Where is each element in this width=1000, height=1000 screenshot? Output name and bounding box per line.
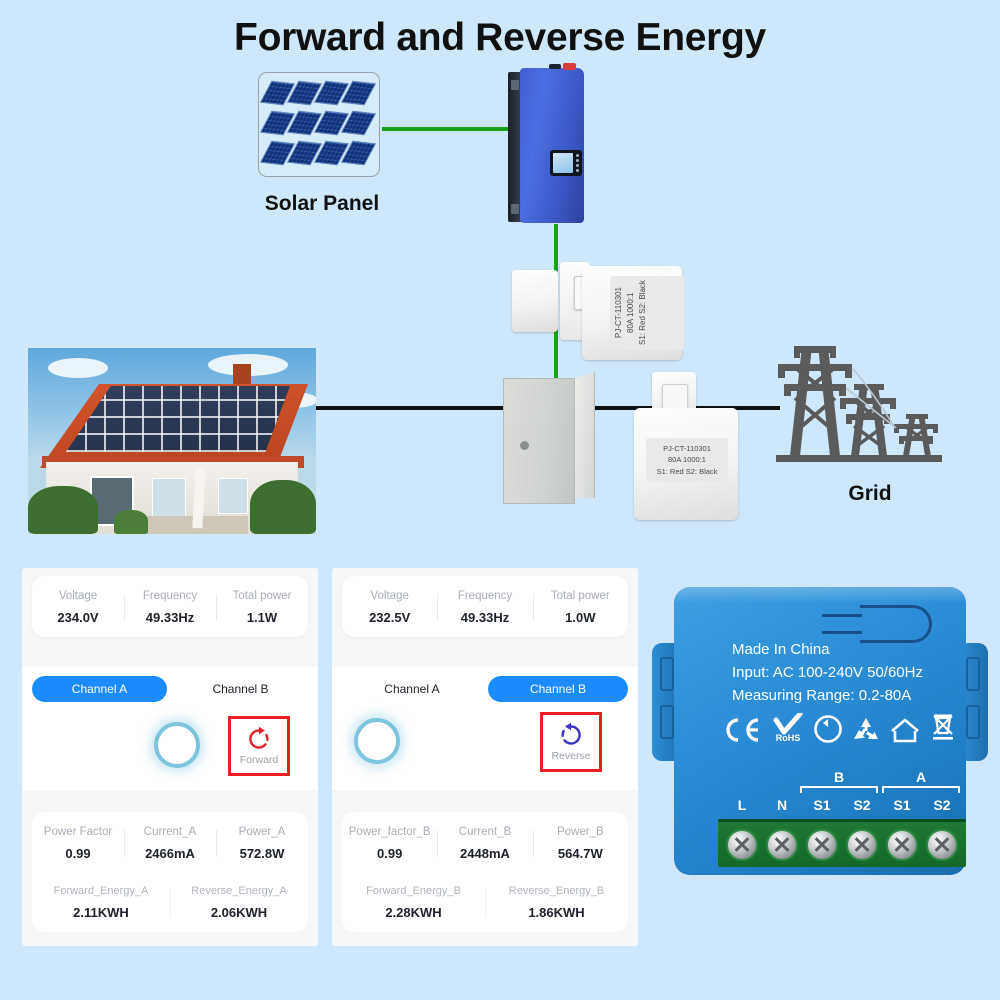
metric-label: Voltage: [32, 590, 124, 602]
terminal-labels: B A L N S1 S2 S1 S2: [722, 769, 962, 813]
ct-lower-wiring: S1: Red S2: Black: [657, 467, 718, 476]
ce-mark-icon: [722, 717, 762, 743]
metric-power-factor-a: Power Factor 0.99: [32, 826, 124, 861]
grid-tie-inverter-icon: [508, 68, 584, 226]
metric-power-factor-b: Power_factor_B 0.99: [342, 826, 437, 861]
metric-value: 232.5V: [342, 610, 437, 625]
direction-area-a: Forward: [22, 704, 318, 790]
metric-value: 234.0V: [32, 610, 124, 625]
terminal-block: [718, 819, 966, 867]
green-dot-icon: [814, 715, 842, 743]
cable-hook-icon: [860, 605, 932, 643]
spec-line-input: Input: AC 100-240V 50/60Hz: [732, 662, 923, 685]
direction-label: Forward: [240, 754, 279, 766]
bottom-metrics-card-a: Power Factor 0.99 Current_A 2466mA Power…: [32, 812, 308, 932]
rotate-clockwise-icon: [246, 726, 272, 752]
bottom-metrics-card-b: Power_factor_B 0.99 Current_B 2448mA Pow…: [342, 812, 628, 932]
top-metrics-card-b: Voltage 232.5V Frequency 49.33Hz Total p…: [342, 576, 628, 637]
gap-a: [22, 645, 318, 667]
direction-indicator-a[interactable]: Forward: [228, 716, 290, 776]
gap2-a: [22, 790, 318, 812]
direction-area-b: Reverse: [332, 704, 638, 790]
terminal-group-b: B: [800, 769, 878, 793]
metric-label: Total power: [533, 590, 628, 602]
metric-label: Frequency: [124, 590, 216, 602]
ct-lower-rating: 80A 1000:1: [668, 455, 706, 464]
metric-value: 1.0W: [533, 610, 628, 625]
channel-tabs-b: Channel A Channel B: [332, 667, 638, 704]
spec-line-range: Measuring Range: 0.2-80A: [732, 685, 923, 708]
distribution-box-icon: [503, 372, 595, 504]
channel-tabs-a: Channel A Channel B: [22, 667, 318, 704]
metric-voltage-a: Voltage 234.0V: [32, 590, 124, 625]
metric-value: 2.06KWH: [170, 905, 308, 920]
metric-reverse-energy-b: Reverse_Energy_B 1.86KWH: [485, 885, 628, 920]
metric-label: Power Factor: [32, 826, 124, 838]
tab-channel-a[interactable]: Channel A: [342, 676, 482, 702]
metric-label: Current_B: [437, 826, 532, 838]
metric-label: Power_B: [533, 826, 628, 838]
ct-lower-model: PJ-CT-110301: [663, 444, 711, 453]
solar-panel-label: Solar Panel: [252, 192, 392, 216]
metric-frequency-a: Frequency 49.33Hz: [124, 590, 216, 625]
terminal-label-b-s1: S1: [802, 797, 842, 813]
terminal-label-b-s2: S2: [842, 797, 882, 813]
terminal-label-a-s1: S1: [882, 797, 922, 813]
module-spec-text: Made In China Input: AC 100-240V 50/60Hz…: [732, 639, 923, 707]
metric-value: 2448mA: [437, 846, 532, 861]
ct-sensor-upper: PJ-CT-110301 80A 1000:1 S1: Red S2: Blac…: [512, 262, 682, 360]
metric-value: 1.86KWH: [485, 905, 628, 920]
metric-current-b: Current_B 2448mA: [437, 826, 532, 861]
metric-label: Power_factor_B: [342, 826, 437, 838]
terminal-screw[interactable]: [806, 829, 838, 861]
terminal-screw[interactable]: [886, 829, 918, 861]
module-housing: Made In China Input: AC 100-240V 50/60Hz…: [674, 587, 966, 875]
status-ring-icon: [154, 722, 200, 768]
metric-label: Forward_Energy_B: [342, 885, 485, 897]
metric-frequency-b: Frequency 49.33Hz: [437, 590, 532, 625]
certification-icons: RoHS: [722, 713, 956, 743]
status-ring-icon: [354, 718, 400, 764]
svg-text:RoHS: RoHS: [776, 733, 801, 743]
terminal-group-a: A: [882, 769, 960, 793]
metric-value: 49.33Hz: [124, 610, 216, 625]
terminal-screw[interactable]: [926, 829, 958, 861]
terminal-screw[interactable]: [726, 829, 758, 861]
metric-total-power-b: Total power 1.0W: [533, 590, 628, 625]
ct-upper-wiring: S1: Red S2: Black: [638, 281, 647, 346]
ct-sensor-lower-label: PJ-CT-110301 80A 1000:1 S1: Red S2: Blac…: [646, 438, 728, 482]
metric-label: Voltage: [342, 590, 437, 602]
solar-panel-array-icon: [258, 72, 380, 177]
app-screenshot-channel-a: Voltage 234.0V Frequency 49.33Hz Total p…: [22, 568, 318, 946]
direction-label: Reverse: [551, 750, 590, 762]
metric-value: 0.99: [32, 846, 124, 861]
metric-label: Current_A: [124, 826, 216, 838]
metric-value: 572.8W: [216, 846, 308, 861]
power-pylons-icon: [770, 336, 960, 476]
metric-label: Power_A: [216, 826, 308, 838]
gap-b: [332, 645, 638, 667]
tab-channel-a[interactable]: Channel A: [32, 676, 167, 702]
ac-wire-house-to-cabinet: [316, 406, 506, 410]
dc-wire-array-to-inverter: [382, 127, 510, 131]
ct-upper-model: PJ-CT-110301: [614, 288, 623, 339]
metric-value: 2.28KWH: [342, 905, 485, 920]
terminal-label-l: L: [722, 797, 762, 813]
terminal-group-label: A: [882, 769, 960, 785]
metric-label: Forward_Energy_A: [32, 885, 170, 897]
metric-power-a: Power_A 572.8W: [216, 826, 308, 861]
metric-value: 0.99: [342, 846, 437, 861]
terminal-label-n: N: [762, 797, 802, 813]
terminal-screw[interactable]: [766, 829, 798, 861]
recycle-icon: [852, 717, 880, 743]
grid-label: Grid: [800, 482, 940, 506]
metric-forward-energy-b: Forward_Energy_B 2.28KWH: [342, 885, 485, 920]
top-metrics-card-a: Voltage 234.0V Frequency 49.33Hz Total p…: [32, 576, 308, 637]
metric-forward-energy-a: Forward_Energy_A 2.11KWH: [32, 885, 170, 920]
metric-value: 2.11KWH: [32, 905, 170, 920]
metric-label: Frequency: [437, 590, 532, 602]
gap2-b: [332, 790, 638, 812]
ct-sensor-lower: PJ-CT-110301 80A 1000:1 S1: Red S2: Blac…: [630, 372, 750, 530]
metric-value: 2466mA: [124, 846, 216, 861]
metric-value: 49.33Hz: [437, 610, 532, 625]
rohs-mark-icon: RoHS: [772, 713, 804, 743]
terminal-group-label: B: [800, 769, 878, 785]
metric-value: 564.7W: [533, 846, 628, 861]
metric-label: Total power: [216, 590, 308, 602]
app-screenshot-channel-b: Voltage 232.5V Frequency 49.33Hz Total p…: [332, 568, 638, 946]
metric-value: 1.1W: [216, 610, 308, 625]
ct-upper-rating: 80A 1000:1: [626, 293, 635, 333]
system-diagram: Solar Panel PJ-CT-110301 80A 1000:1 S1: …: [0, 0, 1000, 560]
rotate-counterclockwise-icon: [558, 722, 584, 748]
terminal-label-a-s2: S2: [922, 797, 962, 813]
metric-label: Reverse_Energy_A: [170, 885, 308, 897]
tab-channel-b[interactable]: Channel B: [173, 676, 308, 702]
tab-channel-b[interactable]: Channel B: [488, 676, 628, 702]
house-icon: [890, 717, 920, 743]
energy-meter-module: Made In China Input: AC 100-240V 50/60Hz…: [652, 583, 988, 881]
cabinet-lock-icon: [520, 441, 529, 450]
weee-icon: [930, 713, 956, 743]
ct-sensor-upper-label: PJ-CT-110301 80A 1000:1 S1: Red S2: Blac…: [610, 276, 684, 350]
terminal-screw[interactable]: [846, 829, 878, 861]
house-with-solar-photo: [28, 348, 316, 534]
spec-line-origin: Made In China: [732, 639, 923, 662]
metric-total-power-a: Total power 1.1W: [216, 590, 308, 625]
direction-indicator-b[interactable]: Reverse: [540, 712, 602, 772]
inverter-display: [550, 150, 582, 176]
metric-power-b: Power_B 564.7W: [533, 826, 628, 861]
metric-reverse-energy-a: Reverse_Energy_A 2.06KWH: [170, 885, 308, 920]
metric-voltage-b: Voltage 232.5V: [342, 590, 437, 625]
metric-label: Reverse_Energy_B: [485, 885, 628, 897]
metric-current-a: Current_A 2466mA: [124, 826, 216, 861]
